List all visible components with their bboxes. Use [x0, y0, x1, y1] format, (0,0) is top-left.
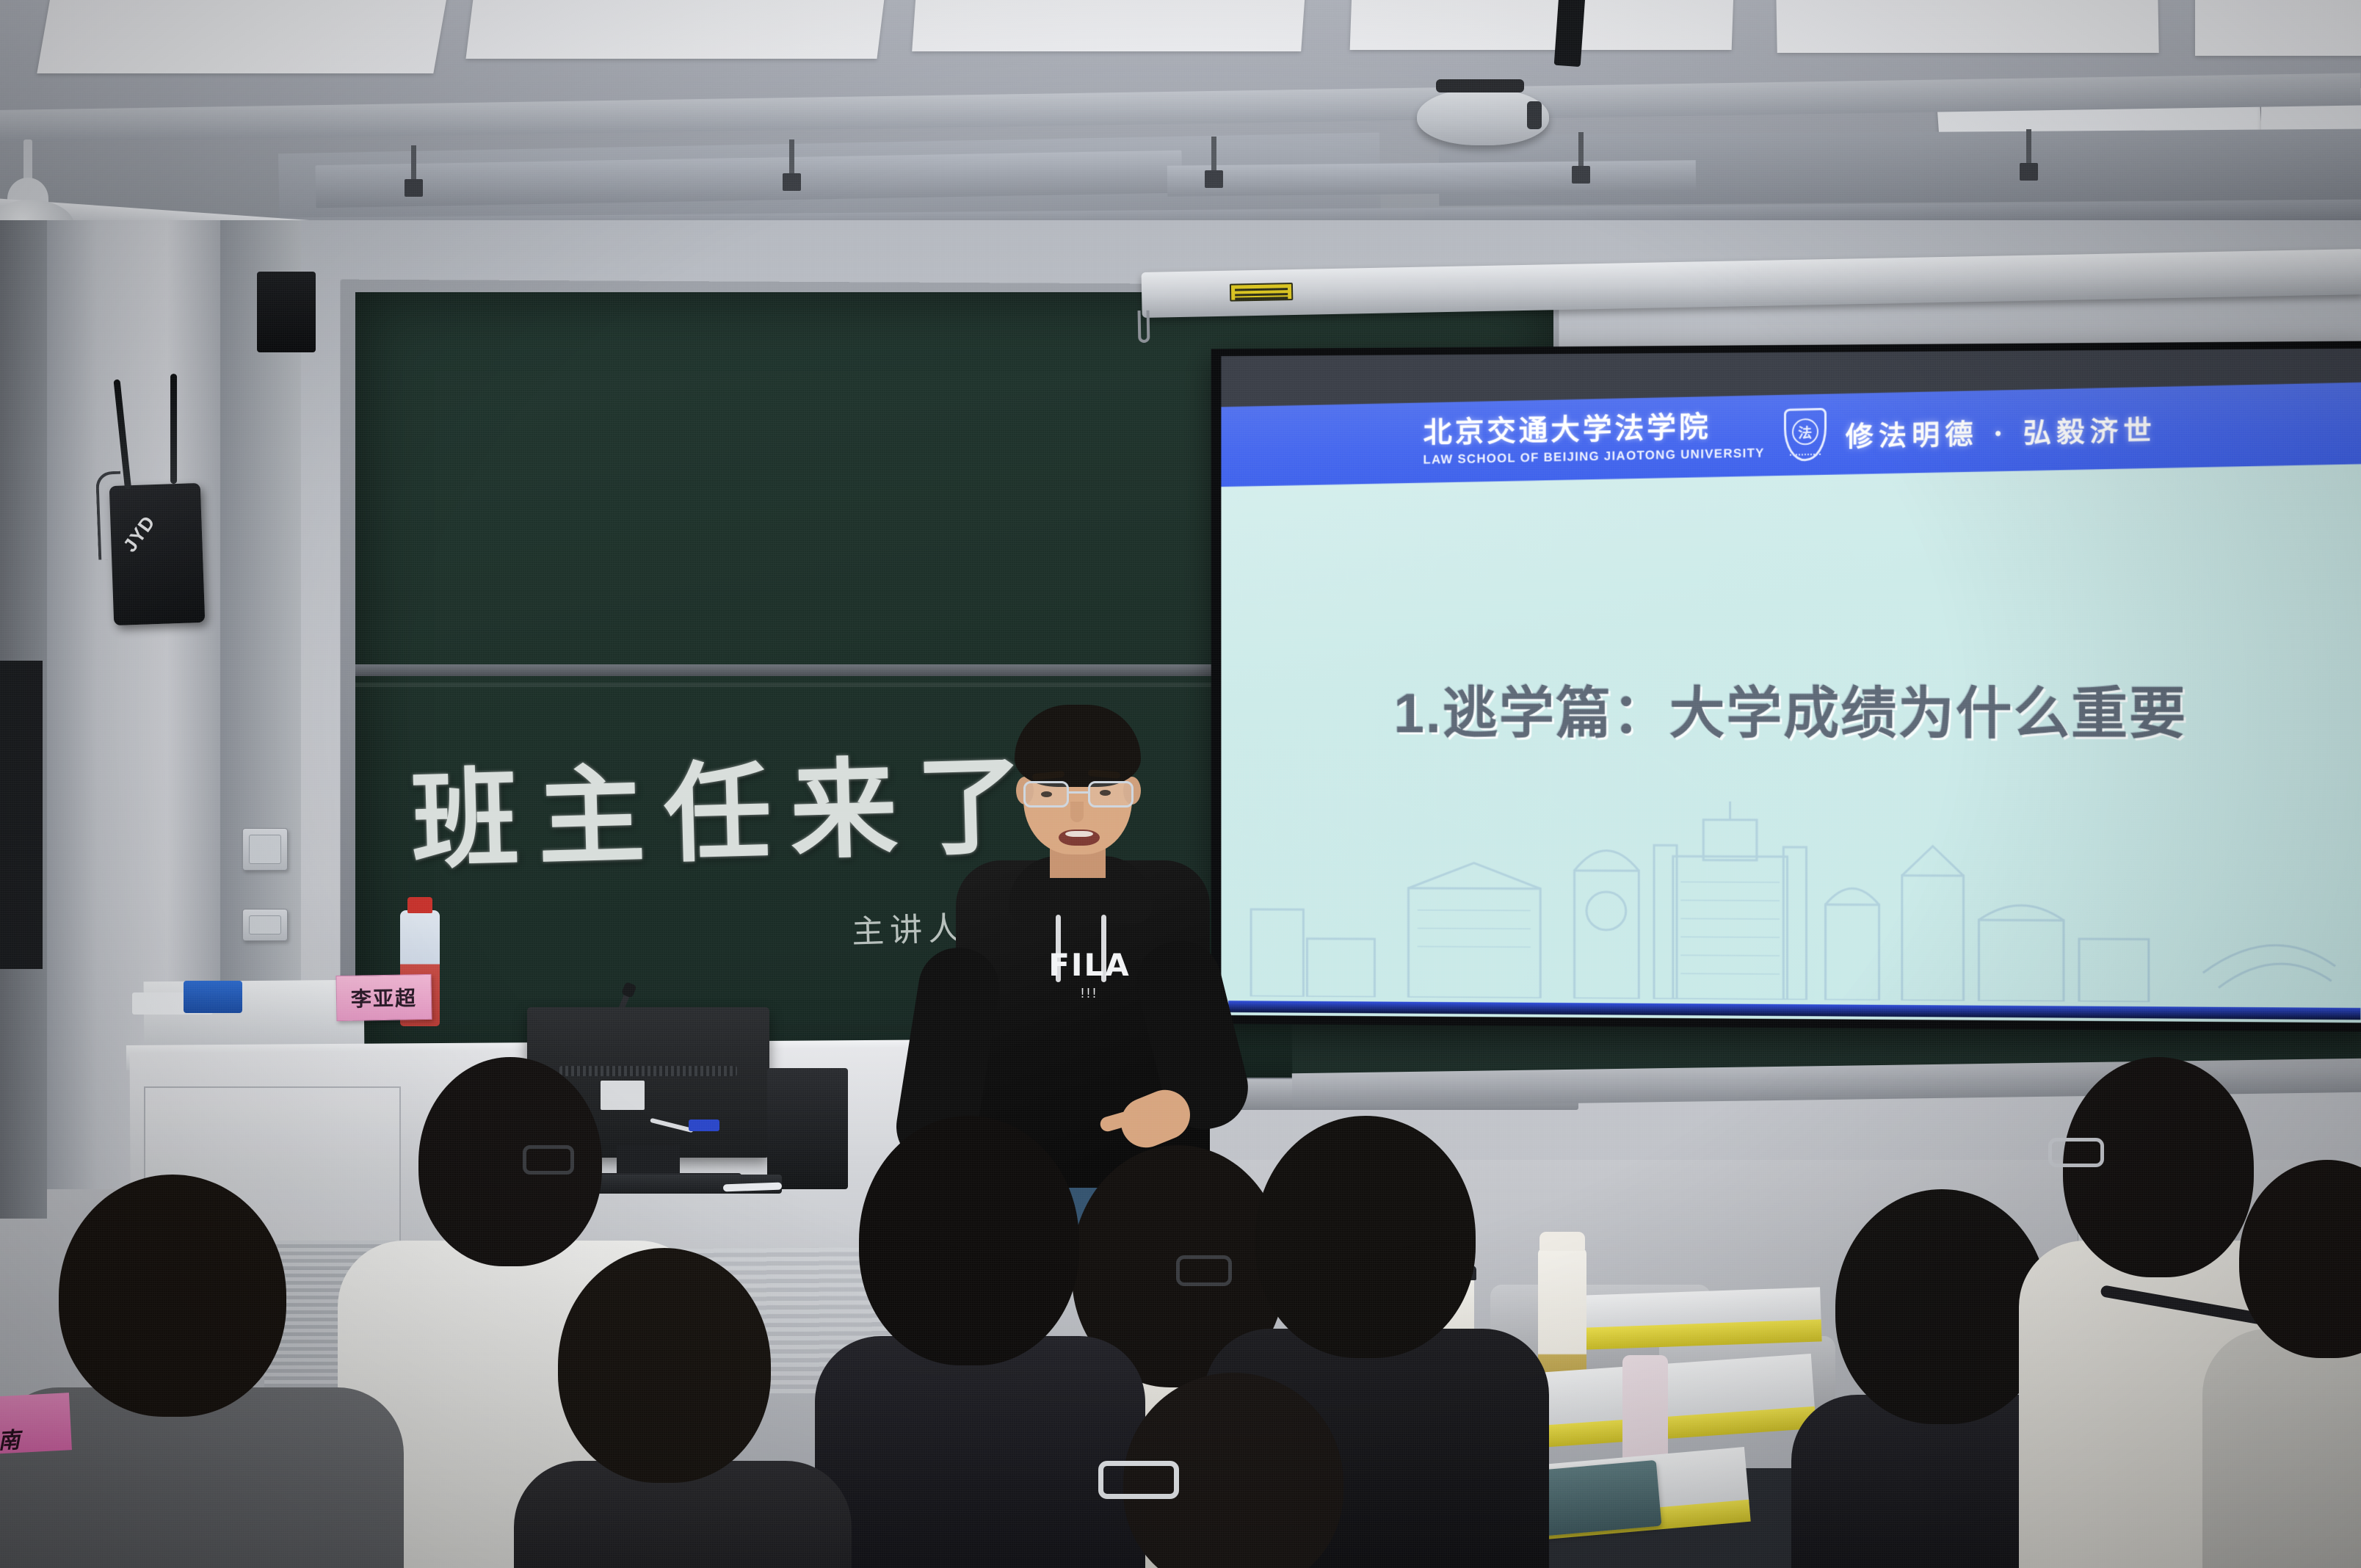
hoodie-brand-logo: FILA !!!	[1042, 947, 1136, 1001]
ceiling-light-panel	[2195, 0, 2361, 56]
ceiling-rib	[1167, 160, 1696, 197]
screen-bottom-glow	[1228, 1001, 2360, 1020]
student	[507, 1248, 859, 1568]
student	[15, 1175, 396, 1568]
name-placard-text: 南	[0, 1422, 21, 1456]
ceiling-light-panel	[1776, 0, 2158, 53]
jyd-wireless-device: JYD	[109, 483, 206, 625]
warning-label-icon	[1230, 283, 1293, 302]
device-cable	[95, 471, 123, 560]
roller-hook	[1138, 311, 1150, 343]
wall-speaker	[257, 272, 316, 352]
school-name-cn: 北京交通大学法学院	[1424, 411, 1765, 448]
wifi-access-point-icon	[1417, 88, 1549, 145]
ceiling-light-panel	[465, 0, 885, 59]
school-motto: 修法明德 · 弘毅济世	[1846, 407, 2157, 454]
ceiling-hanger	[1578, 132, 1584, 170]
city-skyline-watermark-icon	[1221, 800, 2361, 1003]
student	[2217, 1160, 2361, 1568]
ceiling-light-panel	[37, 0, 447, 73]
lecturer-nose	[1070, 802, 1084, 822]
ceiling-hanger	[789, 139, 794, 178]
name-placard-text: 李亚超	[351, 982, 418, 1013]
fila-wordmark: FILA	[1042, 947, 1136, 983]
ceiling-hanger	[411, 145, 416, 184]
podium-blue-device	[184, 981, 242, 1013]
projection-screen: 北京交通大学法学院 LAW SCHOOL OF BEIJING JIAOTONG…	[1211, 341, 2361, 1031]
student	[1087, 1373, 1439, 1568]
light-switch[interactable]	[242, 828, 288, 871]
ceiling-hanger	[1211, 137, 1216, 175]
antenna-icon	[170, 374, 177, 484]
light-switch[interactable]	[242, 909, 288, 941]
school-name-en: LAW SCHOOL OF BEIJING JIAOTONG UNIVERSIT…	[1424, 446, 1765, 467]
slide-title: 1.逃学篇：大学成绩为什么重要	[1221, 668, 2361, 749]
eyeglasses-icon	[1098, 1461, 1179, 1499]
ceiling-light-panel	[912, 0, 1305, 51]
ceiling-fixture-bracket	[1554, 0, 1586, 67]
fila-sub-mark: !!!	[1042, 986, 1136, 1001]
name-placard: 南	[0, 1393, 72, 1454]
eyeglasses-icon	[523, 1145, 574, 1175]
lecturer-mouth	[1059, 830, 1100, 846]
ceiling	[0, 0, 2361, 242]
student	[822, 1116, 1131, 1568]
school-shield-logo-icon: 法	[1784, 408, 1827, 462]
name-placard: 李亚超	[336, 974, 432, 1021]
tumbler-cup	[1538, 1248, 1586, 1380]
jyd-brand-label: JYD	[118, 511, 160, 556]
school-name-block: 北京交通大学法学院 LAW SCHOOL OF BEIJING JIAOTONG…	[1424, 411, 1765, 467]
doorway-dark	[0, 661, 43, 969]
ceiling-hanger	[2026, 129, 2031, 167]
ceiling-light-panel	[1350, 0, 1734, 50]
slide-surface: 北京交通大学法学院 LAW SCHOOL OF BEIJING JIAOTONG…	[1221, 349, 2361, 1023]
eyeglasses-icon	[2048, 1138, 2104, 1167]
classroom-photo: JYD 班主任来了 主讲人： 北京交通大学法学院 LAW SCHOOL OF B…	[0, 0, 2361, 1568]
